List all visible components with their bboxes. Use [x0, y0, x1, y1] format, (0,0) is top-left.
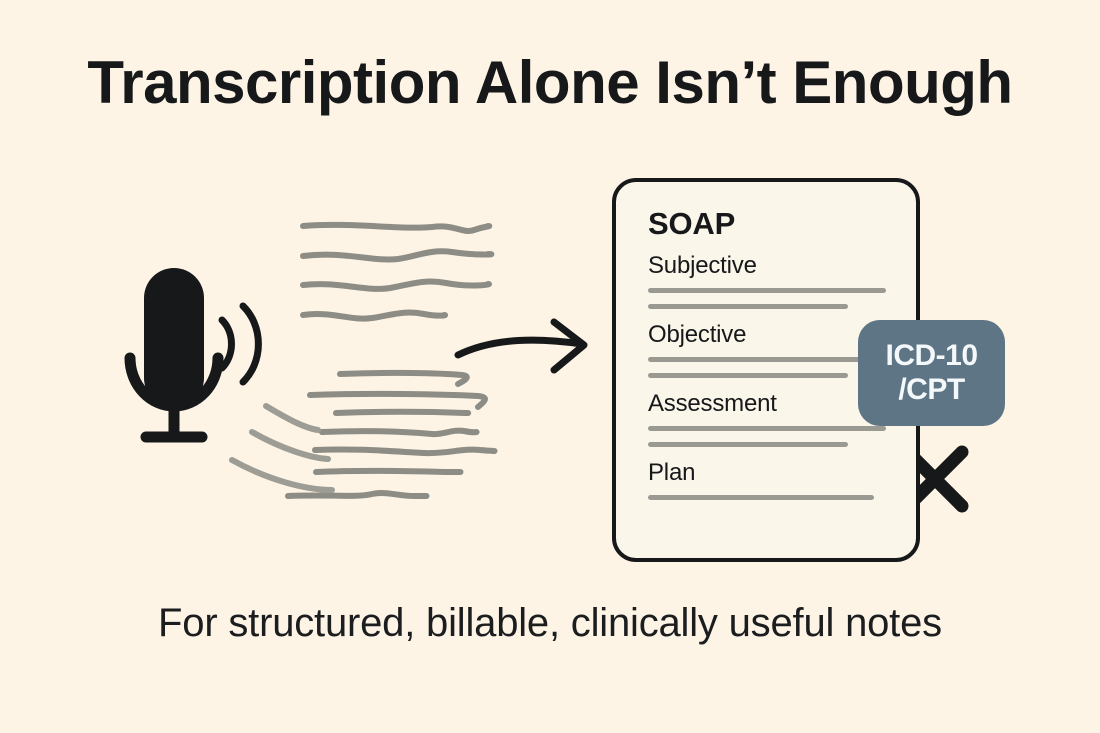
soap-section-label: Subjective: [648, 251, 894, 281]
icd-badge-line-2: /CPT: [898, 373, 964, 407]
arrow-right-icon: [458, 322, 584, 370]
transcript-lines-lower: [288, 373, 494, 496]
transcript-lines-upper: [303, 225, 491, 319]
soap-text-rule: [648, 442, 848, 447]
soap-text-rule: [648, 288, 886, 293]
soap-section-subjective: Subjective: [648, 251, 894, 309]
icd-cpt-badge: ICD-10 /CPT: [858, 320, 1005, 426]
soap-heading: SOAP: [648, 208, 894, 241]
soap-text-rule: [648, 373, 848, 378]
soap-text-rule: [648, 426, 886, 431]
soap-section-plan: Plan: [648, 458, 894, 500]
page-caption: For structured, billable, clinically use…: [0, 600, 1100, 646]
sound-wave-icon: [222, 306, 258, 382]
soap-text-rule: [648, 357, 886, 362]
icd-badge-line-1: ICD-10: [885, 339, 977, 373]
soap-section-label: Plan: [648, 458, 894, 488]
soap-text-rule: [648, 495, 874, 500]
infographic-canvas: Transcription Alone Isn’t Enough: [0, 0, 1100, 733]
microphone-icon: [130, 268, 218, 437]
soap-text-rule: [648, 304, 848, 309]
